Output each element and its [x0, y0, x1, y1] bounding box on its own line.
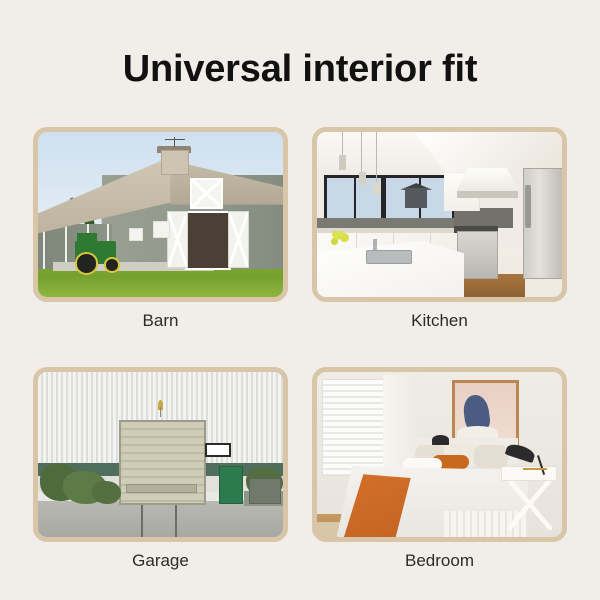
window-blinds — [322, 379, 393, 477]
pendant-cord — [376, 132, 377, 185]
side-table-legs — [508, 478, 552, 531]
garage-photo — [38, 372, 283, 537]
caption-garage: Garage — [33, 551, 288, 571]
caption-bedroom: Bedroom — [312, 551, 567, 571]
promo-page: Universal interior fit — [0, 0, 600, 600]
pendant-cord — [361, 132, 362, 175]
weather-vane-bar — [165, 139, 185, 140]
backsplash — [317, 218, 469, 228]
barn-photo — [38, 132, 283, 297]
gallery-item-garage[interactable]: Garage — [33, 367, 288, 571]
pendant-light — [339, 155, 346, 170]
barn-door-left — [167, 211, 189, 267]
cupola — [161, 150, 190, 175]
pillow — [474, 445, 508, 468]
window-mullion — [354, 178, 356, 219]
gallery-item-kitchen[interactable]: Kitchen — [312, 127, 567, 331]
kitchen-card[interactable] — [312, 127, 567, 302]
bedroom-card[interactable] — [312, 367, 567, 542]
pendant-light — [373, 182, 380, 195]
wall-vent — [129, 228, 143, 242]
image-grid: Barn — [33, 127, 567, 571]
asphalt-ground — [38, 501, 283, 537]
waste-bin — [249, 478, 280, 505]
x-brace — [168, 212, 188, 266]
wall-sign — [205, 443, 231, 457]
caption-kitchen: Kitchen — [312, 311, 567, 331]
flower-vase — [329, 231, 351, 261]
floor-rail — [141, 501, 143, 537]
x-brace — [192, 180, 221, 206]
x-brace — [229, 212, 249, 266]
door-label-panel — [126, 484, 197, 493]
gallery-item-barn[interactable]: Barn — [33, 127, 288, 331]
barn-door-right — [228, 211, 250, 267]
wall-sconce — [432, 435, 449, 445]
barn-opening — [185, 211, 231, 269]
loft-door — [190, 178, 223, 208]
gallery-item-bedroom[interactable]: Bedroom — [312, 367, 567, 571]
kitchen-photo — [317, 132, 562, 297]
pendant-light — [359, 172, 366, 185]
tractor-wheel — [75, 252, 99, 274]
page-title: Universal interior fit — [0, 48, 600, 91]
lamp-base — [523, 468, 548, 470]
sink — [366, 250, 412, 264]
grid-row-top: Barn — [33, 127, 567, 331]
wall-vent — [153, 221, 170, 238]
floor-rail — [175, 501, 177, 537]
garage-card[interactable] — [33, 367, 288, 542]
lamp-pole — [160, 407, 161, 417]
bush — [92, 481, 121, 504]
range-hood-base — [457, 191, 518, 198]
bedroom-photo — [317, 372, 562, 537]
caption-barn: Barn — [33, 311, 288, 331]
green-side-door — [219, 466, 243, 504]
barn-card[interactable] — [33, 127, 288, 302]
neighbor-house — [405, 188, 427, 208]
refrigerator-handle — [525, 185, 531, 228]
grid-row-bottom: Garage — [33, 367, 567, 571]
